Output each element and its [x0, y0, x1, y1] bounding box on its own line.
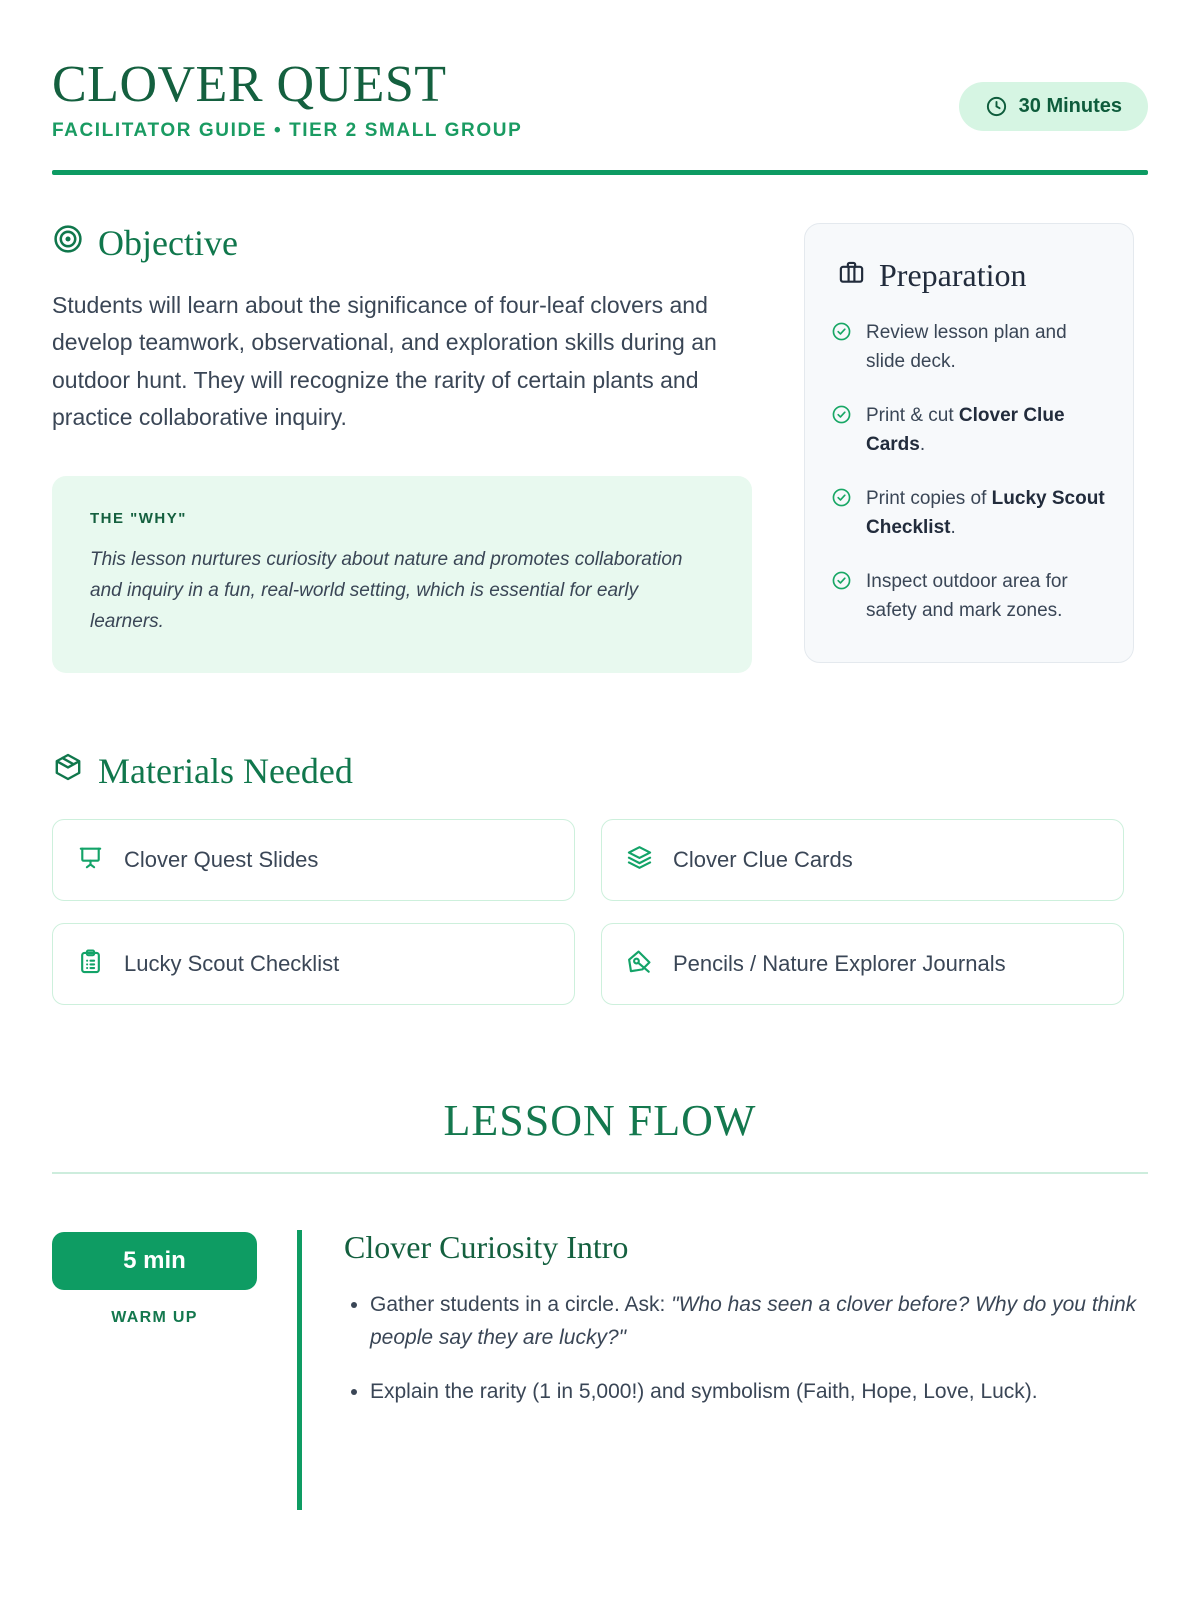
page-subtitle: FACILITATOR GUIDE • TIER 2 SMALL GROUP	[52, 120, 522, 142]
time-badge: 5 min	[52, 1232, 257, 1290]
target-icon	[52, 223, 84, 261]
preparation-item-text: Print & cut Clover Clue Cards.	[866, 401, 1107, 460]
clipboard-list-icon	[77, 948, 104, 980]
preparation-card: Preparation Review lesson plan and slide…	[804, 223, 1134, 663]
page-header: CLOVER QUEST FACILITATOR GUIDE • TIER 2 …	[52, 48, 1148, 142]
main-column: Objective Students will learn about the …	[52, 223, 752, 673]
page-title: CLOVER QUEST	[52, 58, 522, 111]
presentation-screen-icon	[77, 844, 104, 876]
check-circle-icon	[831, 404, 852, 460]
step-time-column: 5 min WARM UP	[52, 1230, 257, 1327]
list-item: Gather students in a circle. Ask: "Who h…	[370, 1288, 1148, 1355]
clock-icon	[985, 95, 1008, 118]
preparation-list: Review lesson plan and slide deck. Print…	[831, 318, 1107, 626]
layers-icon	[626, 844, 653, 876]
material-label: Clover Quest Slides	[124, 847, 318, 873]
side-column: Preparation Review lesson plan and slide…	[804, 223, 1134, 663]
list-item: Inspect outdoor area for safety and mark…	[831, 567, 1107, 626]
step-title: Clover Curiosity Intro	[344, 1230, 1148, 1265]
material-card-pencils[interactable]: Pencils / Nature Explorer Journals	[601, 923, 1124, 1005]
material-label: Lucky Scout Checklist	[124, 951, 339, 977]
objective-heading-text: Objective	[98, 225, 238, 261]
check-circle-icon	[831, 570, 852, 626]
materials-section: Materials Needed Clover Quest Slides	[52, 751, 1148, 1005]
material-card-clue-cards[interactable]: Clover Clue Cards	[601, 819, 1124, 901]
materials-grid: Clover Quest Slides Clover Clue Cards	[52, 819, 1148, 1005]
phase-label: WARM UP	[52, 1309, 257, 1327]
facilitator-guide-page: CLOVER QUEST FACILITATOR GUIDE • TIER 2 …	[0, 0, 1200, 1600]
material-card-checklist[interactable]: Lucky Scout Checklist	[52, 923, 575, 1005]
preparation-heading: Preparation	[831, 258, 1107, 292]
check-circle-icon	[831, 487, 852, 543]
duration-badge: 30 Minutes	[959, 82, 1148, 131]
briefcase-icon	[837, 258, 866, 292]
content-columns: Objective Students will learn about the …	[52, 223, 1148, 673]
lesson-flow-title: LESSON FLOW	[52, 1095, 1148, 1146]
list-item: Print copies of Lucky Scout Checklist.	[831, 484, 1107, 543]
preparation-item-text: Inspect outdoor area for safety and mark…	[866, 567, 1107, 626]
package-icon	[52, 751, 84, 789]
step-bullet-list: Gather students in a circle. Ask: "Who h…	[344, 1288, 1148, 1409]
check-circle-icon	[831, 321, 852, 377]
materials-heading-text: Materials Needed	[98, 753, 353, 789]
lesson-flow-step: 5 min WARM UP Clover Curiosity Intro Gat…	[52, 1230, 1148, 1510]
why-callout-label: THE "WHY"	[90, 510, 714, 527]
why-callout-text: This lesson nurtures curiosity about nat…	[90, 545, 714, 637]
pen-nib-icon	[626, 948, 653, 980]
list-item: Review lesson plan and slide deck.	[831, 318, 1107, 377]
material-label: Clover Clue Cards	[673, 847, 853, 873]
why-callout: THE "WHY" This lesson nurtures curiosity…	[52, 476, 752, 673]
duration-label: 30 Minutes	[1019, 95, 1122, 118]
objective-body-text: Students will learn about the significan…	[52, 287, 742, 436]
list-item: Explain the rarity (1 in 5,000!) and sym…	[370, 1375, 1148, 1409]
step-content: Clover Curiosity Intro Gather students i…	[302, 1230, 1148, 1428]
materials-heading: Materials Needed	[52, 751, 1148, 789]
objective-heading: Objective	[52, 223, 752, 261]
header-divider	[52, 170, 1148, 175]
list-item: Print & cut Clover Clue Cards.	[831, 401, 1107, 460]
preparation-heading-text: Preparation	[879, 259, 1027, 291]
material-card-slides[interactable]: Clover Quest Slides	[52, 819, 575, 901]
header-titles: CLOVER QUEST FACILITATOR GUIDE • TIER 2 …	[52, 58, 522, 142]
preparation-item-text: Review lesson plan and slide deck.	[866, 318, 1107, 377]
preparation-item-text: Print copies of Lucky Scout Checklist.	[866, 484, 1107, 543]
material-label: Pencils / Nature Explorer Journals	[673, 951, 1006, 977]
lesson-flow-divider	[52, 1172, 1148, 1174]
